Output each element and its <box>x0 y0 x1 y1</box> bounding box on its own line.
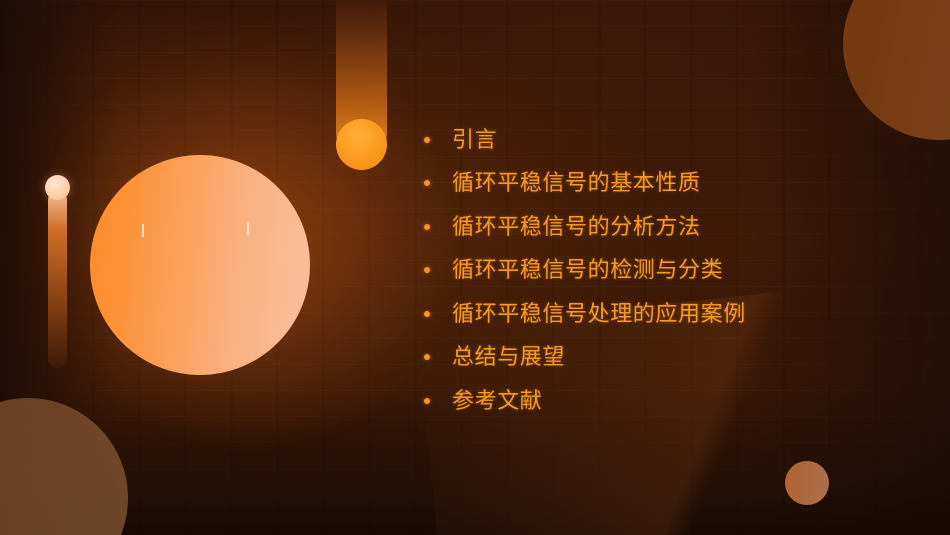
large-orange-circle-icon <box>90 155 310 375</box>
bullet-dot-icon <box>424 354 430 360</box>
bullet-dot-icon <box>424 311 430 317</box>
vertical-bar-left <box>48 190 67 368</box>
pale-dot-icon-left <box>45 175 70 200</box>
list-item-label: 循环平稳信号的基本性质 <box>452 172 701 194</box>
list-item-label: 参考文献 <box>452 390 542 412</box>
tick-mark-left <box>142 224 144 237</box>
list-item-label: 循环平稳信号的分析方法 <box>452 216 701 238</box>
list-item[interactable]: 循环平稳信号的检测与分类 <box>424 249 924 293</box>
list-item[interactable]: 参考文献 <box>424 379 924 423</box>
list-item-label: 总结与展望 <box>452 346 565 368</box>
list-item[interactable]: 循环平稳信号处理的应用案例 <box>424 292 924 336</box>
agenda-list: 引言 循环平稳信号的基本性质 循环平稳信号的分析方法 循环平稳信号的检测与分类 … <box>424 118 924 423</box>
list-item-label: 循环平稳信号的检测与分类 <box>452 259 723 281</box>
list-item[interactable]: 引言 <box>424 118 924 162</box>
list-item-label: 引言 <box>452 129 497 151</box>
bullet-dot-icon <box>424 267 430 273</box>
bullet-dot-icon <box>424 137 430 143</box>
bullet-dot-icon <box>424 180 430 186</box>
tick-mark-right <box>247 222 249 235</box>
orange-dot-icon-top <box>336 119 387 170</box>
tan-circle-icon-bottom-right <box>785 461 829 505</box>
list-item[interactable]: 总结与展望 <box>424 336 924 380</box>
bullet-dot-icon <box>424 398 430 404</box>
bullet-dot-icon <box>424 224 430 230</box>
list-item[interactable]: 循环平稳信号的基本性质 <box>424 162 924 206</box>
slide-canvas: 引言 循环平稳信号的基本性质 循环平稳信号的分析方法 循环平稳信号的检测与分类 … <box>0 0 950 535</box>
list-item-label: 循环平稳信号处理的应用案例 <box>452 303 746 325</box>
list-item[interactable]: 循环平稳信号的分析方法 <box>424 205 924 249</box>
